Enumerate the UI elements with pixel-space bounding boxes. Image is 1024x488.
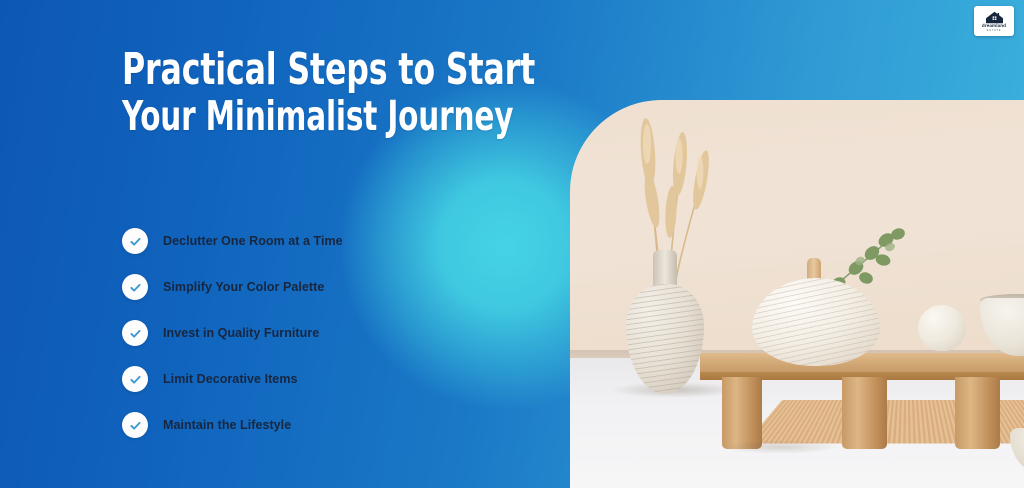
list-item: Limit Decorative Items <box>122 366 343 392</box>
riser-leg <box>842 377 887 449</box>
check-circle-icon <box>122 274 148 300</box>
headline-line-2: Your Minimalist Journey <box>122 96 535 136</box>
logo-tagline: ESTATE <box>987 29 1002 32</box>
list-item-label: Simplify Your Color Palette <box>163 280 324 294</box>
list-item: Simplify Your Color Palette <box>122 274 343 300</box>
page-title: Practical Steps to Start Your Minimalist… <box>122 48 638 136</box>
riser-leg <box>722 377 762 449</box>
list-item-label: Declutter One Room at a Time <box>163 234 343 248</box>
check-circle-icon <box>122 412 148 438</box>
riser-leg <box>955 377 1000 449</box>
list-item: Declutter One Room at a Time <box>122 228 343 254</box>
list-item-label: Invest in Quality Furniture <box>163 326 319 340</box>
headline-line-1: Practical Steps to Start <box>122 48 535 91</box>
list-item-label: Maintain the Lifestyle <box>163 418 291 432</box>
photo-shadow <box>720 440 840 454</box>
small-ceramic-pot <box>918 305 966 351</box>
house-icon <box>985 11 1004 24</box>
interior-photo <box>570 100 1024 488</box>
check-circle-icon <box>122 366 148 392</box>
checklist: Declutter One Room at a Time Simplify Yo… <box>122 228 343 438</box>
list-item: Invest in Quality Furniture <box>122 320 343 346</box>
list-item: Maintain the Lifestyle <box>122 412 343 438</box>
list-item-label: Limit Decorative Items <box>163 372 297 386</box>
brand-logo[interactable]: dreamland ESTATE <box>974 6 1014 36</box>
check-circle-icon <box>122 320 148 346</box>
promo-banner: Practical Steps to Start Your Minimalist… <box>0 0 1024 488</box>
check-circle-icon <box>122 228 148 254</box>
